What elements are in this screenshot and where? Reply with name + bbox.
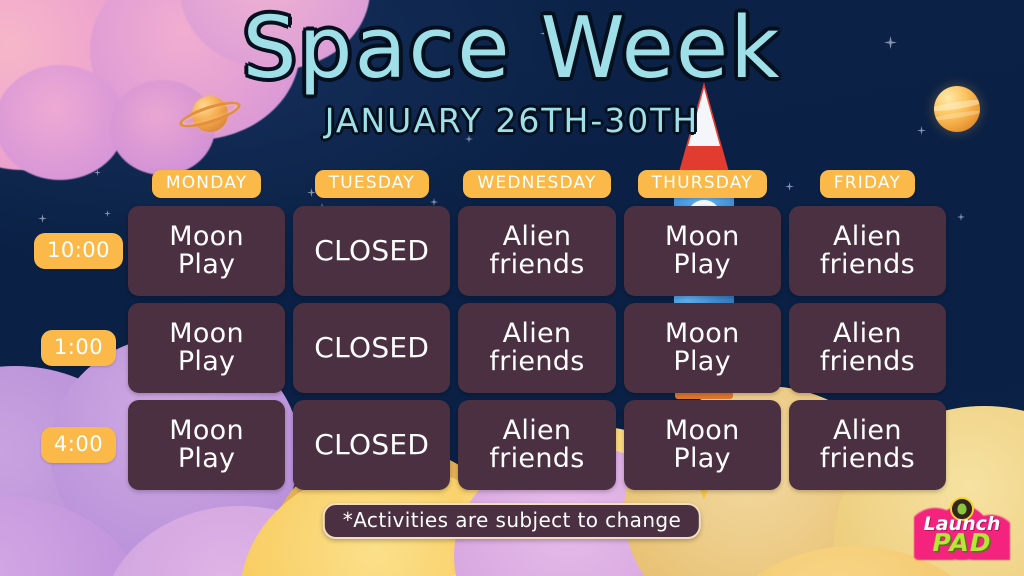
schedule-cell[interactable]: Alienfriends: [789, 400, 946, 490]
schedule-cell[interactable]: MoonPlay: [128, 400, 285, 490]
cell-line-2: Play: [169, 445, 244, 473]
cell-line-1: Alien: [489, 320, 584, 348]
schedule-grid: MoonPlay CLOSED Alienfriends MoonPlay Al…: [128, 206, 946, 490]
schedule-cell[interactable]: CLOSED: [293, 206, 450, 296]
cell-line-2: Play: [169, 251, 244, 279]
cell-line-1: Moon: [169, 223, 244, 251]
day-header-wednesday[interactable]: WEDNESDAY: [463, 170, 610, 198]
page-title: Space Week: [0, 6, 1024, 91]
page-subtitle: JANUARY 26TH-30TH: [0, 104, 1024, 137]
logo-text-pad: PAD: [918, 530, 1006, 555]
cell-line-2: friends: [489, 445, 584, 473]
cell-line-1: CLOSED: [314, 431, 429, 460]
cell-line-2: Play: [665, 445, 740, 473]
schedule-cell[interactable]: MoonPlay: [624, 206, 781, 296]
space-week-poster: Space Week JANUARY 26TH-30TH MONDAY TUES…: [0, 0, 1024, 576]
schedule-cell[interactable]: MoonPlay: [624, 400, 781, 490]
cell-line-2: friends: [820, 445, 915, 473]
cell-line-1: Alien: [820, 320, 915, 348]
time-label-1000[interactable]: 10:00: [34, 233, 123, 269]
day-header-friday[interactable]: FRIDAY: [820, 170, 915, 198]
cell-line-2: friends: [489, 251, 584, 279]
cell-line-1: Moon: [665, 223, 740, 251]
cell-line-2: Play: [169, 348, 244, 376]
cell-line-1: Moon: [665, 417, 740, 445]
cell-line-2: Play: [665, 348, 740, 376]
time-label-100[interactable]: 1:00: [41, 330, 116, 366]
schedule-cell[interactable]: Alienfriends: [458, 206, 615, 296]
cell-line-1: CLOSED: [314, 237, 429, 266]
cell-line-1: Alien: [489, 223, 584, 251]
day-header-row: MONDAY TUESDAY WEDNESDAY THURSDAY FRIDAY: [128, 167, 946, 200]
schedule-cell[interactable]: MoonPlay: [624, 303, 781, 393]
time-label-column: 10:00 1:00 4:00: [34, 206, 120, 490]
day-header-thursday[interactable]: THURSDAY: [638, 170, 767, 198]
cell-line-1: Moon: [169, 320, 244, 348]
schedule-cell[interactable]: Alienfriends: [458, 400, 615, 490]
schedule-cell[interactable]: CLOSED: [293, 303, 450, 393]
cell-line-2: friends: [820, 348, 915, 376]
disclaimer-note: *Activities are subject to change: [323, 503, 701, 539]
cell-line-1: Alien: [820, 223, 915, 251]
cell-line-1: Alien: [489, 417, 584, 445]
cell-line-1: Alien: [820, 417, 915, 445]
schedule-cell[interactable]: Alienfriends: [458, 303, 615, 393]
cell-line-1: Moon: [665, 320, 740, 348]
cell-line-2: friends: [820, 251, 915, 279]
schedule-cell[interactable]: Alienfriends: [789, 303, 946, 393]
cell-line-2: Play: [665, 251, 740, 279]
launchpad-logo[interactable]: Launch PAD: [914, 500, 1010, 560]
schedule-cell[interactable]: CLOSED: [293, 400, 450, 490]
day-header-monday[interactable]: MONDAY: [152, 170, 261, 198]
poster-content: Space Week JANUARY 26TH-30TH MONDAY TUES…: [0, 0, 1024, 576]
schedule-cell[interactable]: MoonPlay: [128, 303, 285, 393]
cell-line-1: CLOSED: [314, 334, 429, 363]
day-header-tuesday[interactable]: TUESDAY: [315, 170, 429, 198]
schedule-cell[interactable]: MoonPlay: [128, 206, 285, 296]
cell-line-2: friends: [489, 348, 584, 376]
time-label-400[interactable]: 4:00: [41, 427, 116, 463]
schedule-cell[interactable]: Alienfriends: [789, 206, 946, 296]
cell-line-1: Moon: [169, 417, 244, 445]
